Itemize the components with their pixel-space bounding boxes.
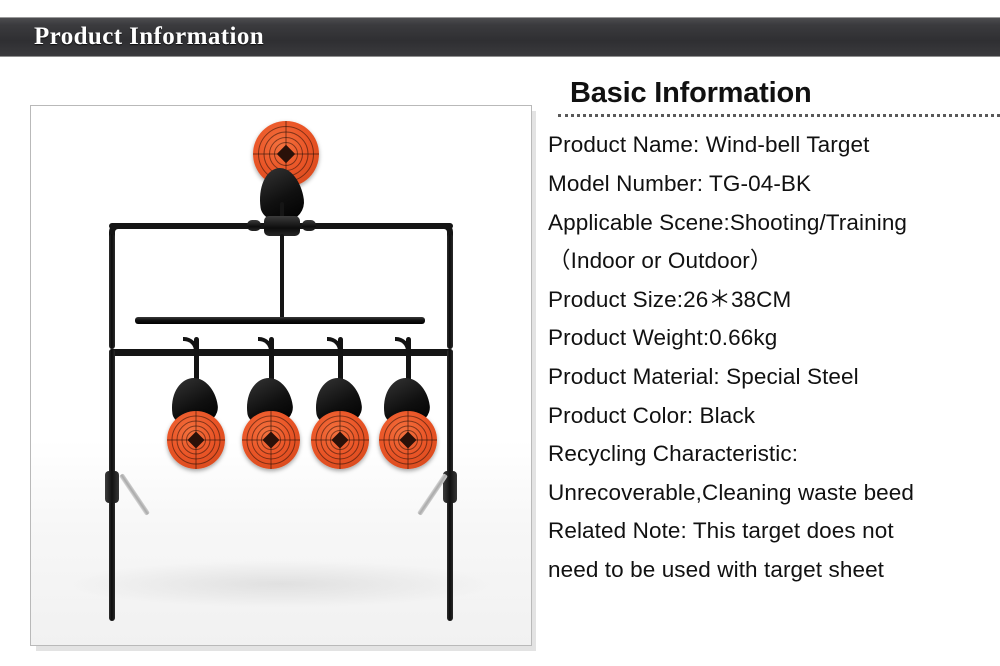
spec-line-product-color: Product Color: Black xyxy=(548,397,1000,436)
spec-line-recycling-characteristic-cont: Unrecoverable,Cleaning waste beed xyxy=(548,474,1000,513)
spec-line-applicable-scene: Applicable Scene:Shooting/Training xyxy=(548,204,1000,243)
spec-line-product-size: Product Size:26＊38CM xyxy=(548,281,1000,320)
heading-divider xyxy=(558,114,1000,117)
hub-collar-left xyxy=(247,220,261,231)
hook-stem xyxy=(338,337,343,383)
spec-line-product-weight: Product Weight:0.66kg xyxy=(548,319,1000,358)
frame-right-post xyxy=(447,234,453,349)
hub-collar-right xyxy=(302,220,316,231)
photo-background xyxy=(31,106,531,645)
frame-left-post xyxy=(109,234,115,349)
page-title: Product Information xyxy=(34,23,264,51)
middle-crossbar xyxy=(135,317,425,324)
basic-information-panel: Basic Information Product Name: Wind-bel… xyxy=(548,78,1000,590)
basic-information-heading: Basic Information xyxy=(548,78,1000,108)
spec-line-recycling-characteristic: Recycling Characteristic: xyxy=(548,435,1000,474)
hanging-target-4 xyxy=(379,411,437,469)
product-information-page: Product Information xyxy=(0,0,1000,666)
spec-line-related-note-cont: need to be used with target sheet xyxy=(548,551,1000,590)
spec-line-model-number: Model Number: TG-04-BK xyxy=(548,165,1000,204)
spec-line-product-name: Product Name: Wind-bell Target xyxy=(548,126,1000,165)
hook-stem xyxy=(269,337,274,383)
left-leg-collar xyxy=(105,471,119,503)
center-vertical-rod xyxy=(280,234,284,324)
header-bar: Product Information xyxy=(0,17,1000,57)
hanging-target-1 xyxy=(167,411,225,469)
spec-line-related-note: Related Note: This target does not xyxy=(548,512,1000,551)
spec-line-product-material: Product Material: Special Steel xyxy=(548,358,1000,397)
hook-stem xyxy=(194,337,199,383)
spinner-hub xyxy=(264,216,300,236)
spec-line-applicable-scene-cont: （Indoor or Outdoor） xyxy=(548,242,1000,281)
hook-stem xyxy=(406,337,411,383)
left-rear-support-leg xyxy=(119,473,150,516)
product-photo xyxy=(30,105,532,646)
hanging-target-2 xyxy=(242,411,300,469)
hanging-target-3 xyxy=(311,411,369,469)
floor-shadow xyxy=(71,561,491,607)
specification-list: Product Name: Wind-bell Target Model Num… xyxy=(548,126,1000,589)
